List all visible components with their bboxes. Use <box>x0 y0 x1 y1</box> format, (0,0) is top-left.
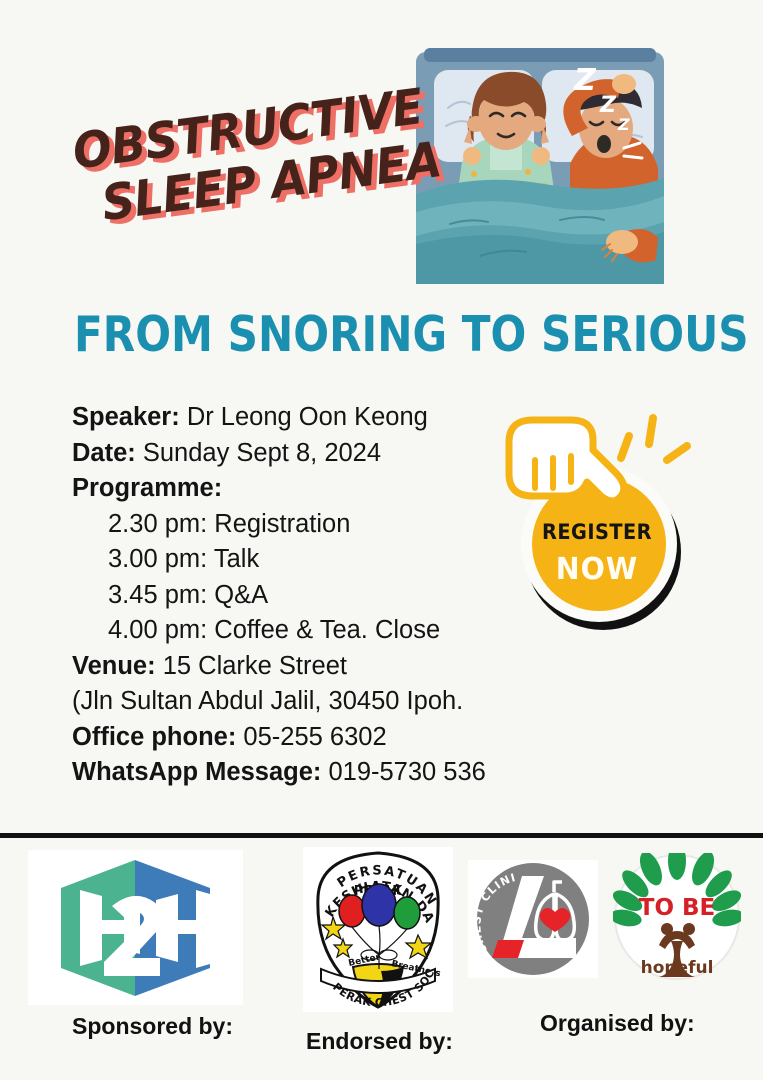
endorsed-by-caption: Endorsed by: <box>306 1028 453 1055</box>
footer-divider <box>0 833 763 838</box>
perak-chest-society-logo: PERSATUAN KESIHATAN DADA PERAK <box>303 847 453 1012</box>
programme-item-4: 4.00 pm: Coffee & Tea. Close <box>72 613 542 649</box>
detail-venue: Venue: 15 Clarke Street <box>72 649 542 685</box>
programme-item-2: 3.00 pm: Talk <box>72 542 542 578</box>
programme-label: Programme: <box>72 474 222 502</box>
programme-item-3: 3.45 pm: Q&A <box>72 578 542 614</box>
svg-text:Z: Z <box>599 93 617 118</box>
chest-clinic-logo: CHEST CLINIC <box>468 860 598 978</box>
detail-venue-line2: (Jln Sultan Abdul Jalil, 30450 Ipoh. <box>72 684 542 720</box>
speaker-value: Dr Leong Oon Keong <box>180 403 428 431</box>
sponsored-by-caption: Sponsored by: <box>72 1013 233 1040</box>
event-details: Speaker: Dr Leong Oon Keong Date: Sunday… <box>72 400 542 791</box>
speaker-label: Speaker: <box>72 403 180 431</box>
whatsapp-value: 019-5730 536 <box>321 758 485 786</box>
organised-by-caption: Organised by: <box>540 1010 695 1037</box>
venue-label: Venue: <box>72 652 156 680</box>
register-now-button[interactable]: REGISTER NOW <box>487 400 707 635</box>
detail-whatsapp: WhatsApp Message: 019-5730 536 <box>72 755 542 791</box>
h2h-logo <box>28 850 243 1005</box>
couple-in-bed-snoring-illustration: Z Z Z <box>410 44 720 291</box>
svg-text:Z: Z <box>617 115 630 134</box>
venue-value: 15 Clarke Street <box>156 652 347 680</box>
date-label: Date: <box>72 439 136 467</box>
whatsapp-label: WhatsApp Message: <box>72 758 321 786</box>
poster-canvas: Z Z Z OBSTRUCTIVE SLEEP APNEA FROM SNORI… <box>0 0 763 1080</box>
detail-programme-label: Programme: <box>72 471 542 507</box>
office-phone-value: 05-255 6302 <box>236 723 386 751</box>
programme-item-1: 2.30 pm: Registration <box>72 507 542 543</box>
detail-speaker: Speaker: Dr Leong Oon Keong <box>72 400 542 436</box>
poster-title: OBSTRUCTIVE SLEEP APNEA <box>70 85 417 277</box>
date-value: Sunday Sept 8, 2024 <box>136 439 381 467</box>
poster-subtitle: FROM SNORING TO SERIOUS <box>74 310 624 359</box>
detail-date: Date: Sunday Sept 8, 2024 <box>72 436 542 472</box>
to-be-hopeful-logo: TO BE hopeful <box>613 853 741 981</box>
detail-office-phone: Office phone: 05-255 6302 <box>72 720 542 756</box>
svg-text:Z: Z <box>573 63 597 98</box>
svg-text:TO BE: TO BE <box>639 895 716 921</box>
svg-text:hopeful: hopeful <box>641 958 714 978</box>
office-phone-label: Office phone: <box>72 723 236 751</box>
